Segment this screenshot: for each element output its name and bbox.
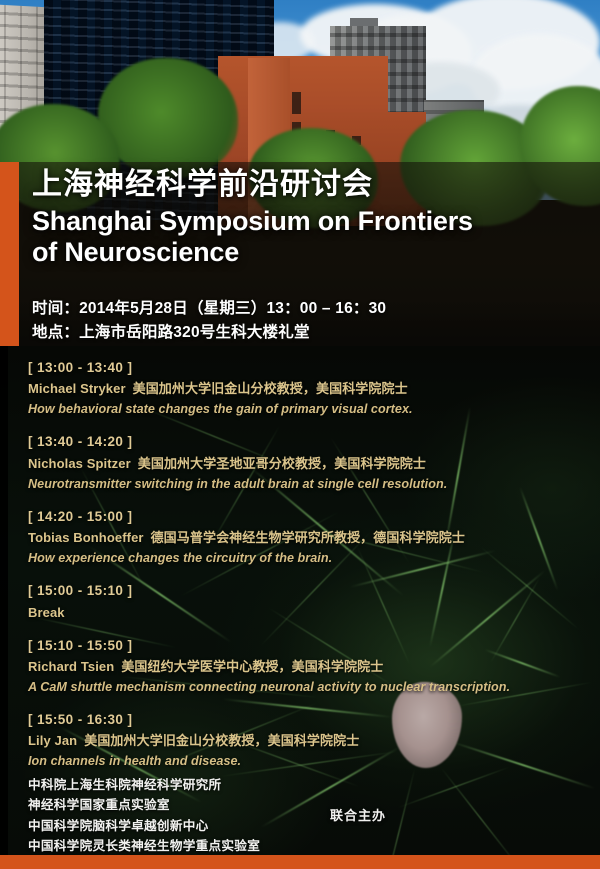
- building-window: [292, 92, 301, 114]
- poster-footer: 中科院上海生科院神经科学研究所神经科学国家重点实验室中国科学院脑科学卓越创新中心…: [0, 775, 600, 855]
- slot-speaker: Lily Jan美国加州大学旧金山分校教授，美国科学院院士: [28, 730, 576, 751]
- speaker-name: Lily Jan: [28, 733, 77, 748]
- organizer-line: 神经科学国家重点实验室: [28, 795, 260, 815]
- slot-speaker: Nicholas Spitzer美国加州大学圣地亚哥分校教授，美国科学院院士: [28, 453, 576, 474]
- slot-speaker: Richard Tsien美国纽约大学医学中心教授，美国科学院院士: [28, 656, 576, 677]
- title-english-line1: Shanghai Symposium on Frontiers: [32, 206, 572, 238]
- speaker-affiliation: 美国加州大学圣地亚哥分校教授，美国科学院院士: [131, 456, 426, 471]
- speaker-affiliation: 美国纽约大学医学中心教授，美国科学院院士: [114, 659, 383, 674]
- speaker-name: Richard Tsien: [28, 659, 114, 674]
- slot-time: [ 13:40 - 14:20 ]: [28, 432, 576, 452]
- event-meta: 时间：2014年5月28日（星期三）13：00 – 16：30 地点：上海市岳阳…: [32, 297, 386, 344]
- speaker-name: Tobias Bonhoeffer: [28, 530, 144, 545]
- slot-speaker: Tobias Bonhoeffer德国马普学会神经生物学研究所教授，德国科学院院…: [28, 527, 576, 548]
- co-host-label: 联合主办: [330, 805, 386, 824]
- slot-talk-title: How experience changes the circuitry of …: [28, 548, 576, 568]
- orange-bottom-bar: [0, 855, 600, 869]
- schedule-list: [ 13:00 - 13:40 ]Michael Stryker美国加州大学旧金…: [0, 346, 600, 784]
- speaker-affiliation: 德国马普学会神经生物学研究所教授，德国科学院院士: [144, 530, 465, 545]
- schedule-slot: [ 15:50 - 16:30 ]Lily Jan美国加州大学旧金山分校教授，美…: [0, 710, 600, 771]
- speaker-name: Break: [28, 605, 65, 620]
- speaker-affiliation: 美国加州大学旧金山分校教授，美国科学院院士: [77, 733, 359, 748]
- slot-talk-title: Ion channels in health and disease.: [28, 751, 576, 771]
- organizer-line: 中科院上海生科院神经科学研究所: [28, 775, 260, 795]
- slot-time: [ 15:00 - 15:10 ]: [28, 581, 576, 601]
- left-dark-edge: [0, 346, 8, 855]
- slot-time: [ 15:10 - 15:50 ]: [28, 636, 576, 656]
- speaker-name: Nicholas Spitzer: [28, 456, 131, 471]
- orange-accent-bar: [0, 162, 19, 346]
- slot-time: [ 15:50 - 16:30 ]: [28, 710, 576, 730]
- title-chinese: 上海神经科学前沿研讨会: [32, 168, 572, 203]
- schedule-slot: [ 15:00 - 15:10 ]Break: [0, 581, 600, 622]
- speaker-name: Michael Stryker: [28, 381, 126, 396]
- slot-talk-title: Neurotransmitter switching in the adult …: [28, 474, 576, 494]
- slot-talk-title: A CaM shuttle mechanism connecting neuro…: [28, 677, 576, 697]
- schedule-slot: [ 14:20 - 15:00 ]Tobias Bonhoeffer德国马普学会…: [0, 507, 600, 568]
- poster-title-block: 上海神经科学前沿研讨会 Shanghai Symposium on Fronti…: [32, 168, 572, 269]
- schedule-slot: [ 13:00 - 13:40 ]Michael Stryker美国加州大学旧金…: [0, 358, 600, 419]
- organizer-line: 中国科学院脑科学卓越创新中心: [28, 816, 260, 836]
- title-english-line2: of Neuroscience: [32, 237, 572, 269]
- schedule-slot: [ 15:10 - 15:50 ]Richard Tsien美国纽约大学医学中心…: [0, 636, 600, 697]
- slot-speaker: Michael Stryker美国加州大学旧金山分校教授，美国科学院院士: [28, 378, 576, 399]
- event-place: 地点：上海市岳阳路320号生科大楼礼堂: [32, 321, 386, 345]
- organizer-line: 中国科学院灵长类神经生物学重点实验室: [28, 836, 260, 856]
- slot-time: [ 13:00 - 13:40 ]: [28, 358, 576, 378]
- speaker-affiliation: 美国加州大学旧金山分校教授，美国科学院院士: [126, 381, 408, 396]
- organizer-list: 中科院上海生科院神经科学研究所神经科学国家重点实验室中国科学院脑科学卓越创新中心…: [28, 775, 260, 857]
- slot-speaker: Break: [28, 602, 576, 623]
- slot-time: [ 14:20 - 15:00 ]: [28, 507, 576, 527]
- schedule-slot: [ 13:40 - 14:20 ]Nicholas Spitzer美国加州大学圣…: [0, 432, 600, 493]
- slot-talk-title: How behavioral state changes the gain of…: [28, 399, 576, 419]
- event-poster: 上海神经科学前沿研讨会 Shanghai Symposium on Fronti…: [0, 0, 600, 869]
- event-time: 时间：2014年5月28日（星期三）13：00 – 16：30: [32, 297, 386, 321]
